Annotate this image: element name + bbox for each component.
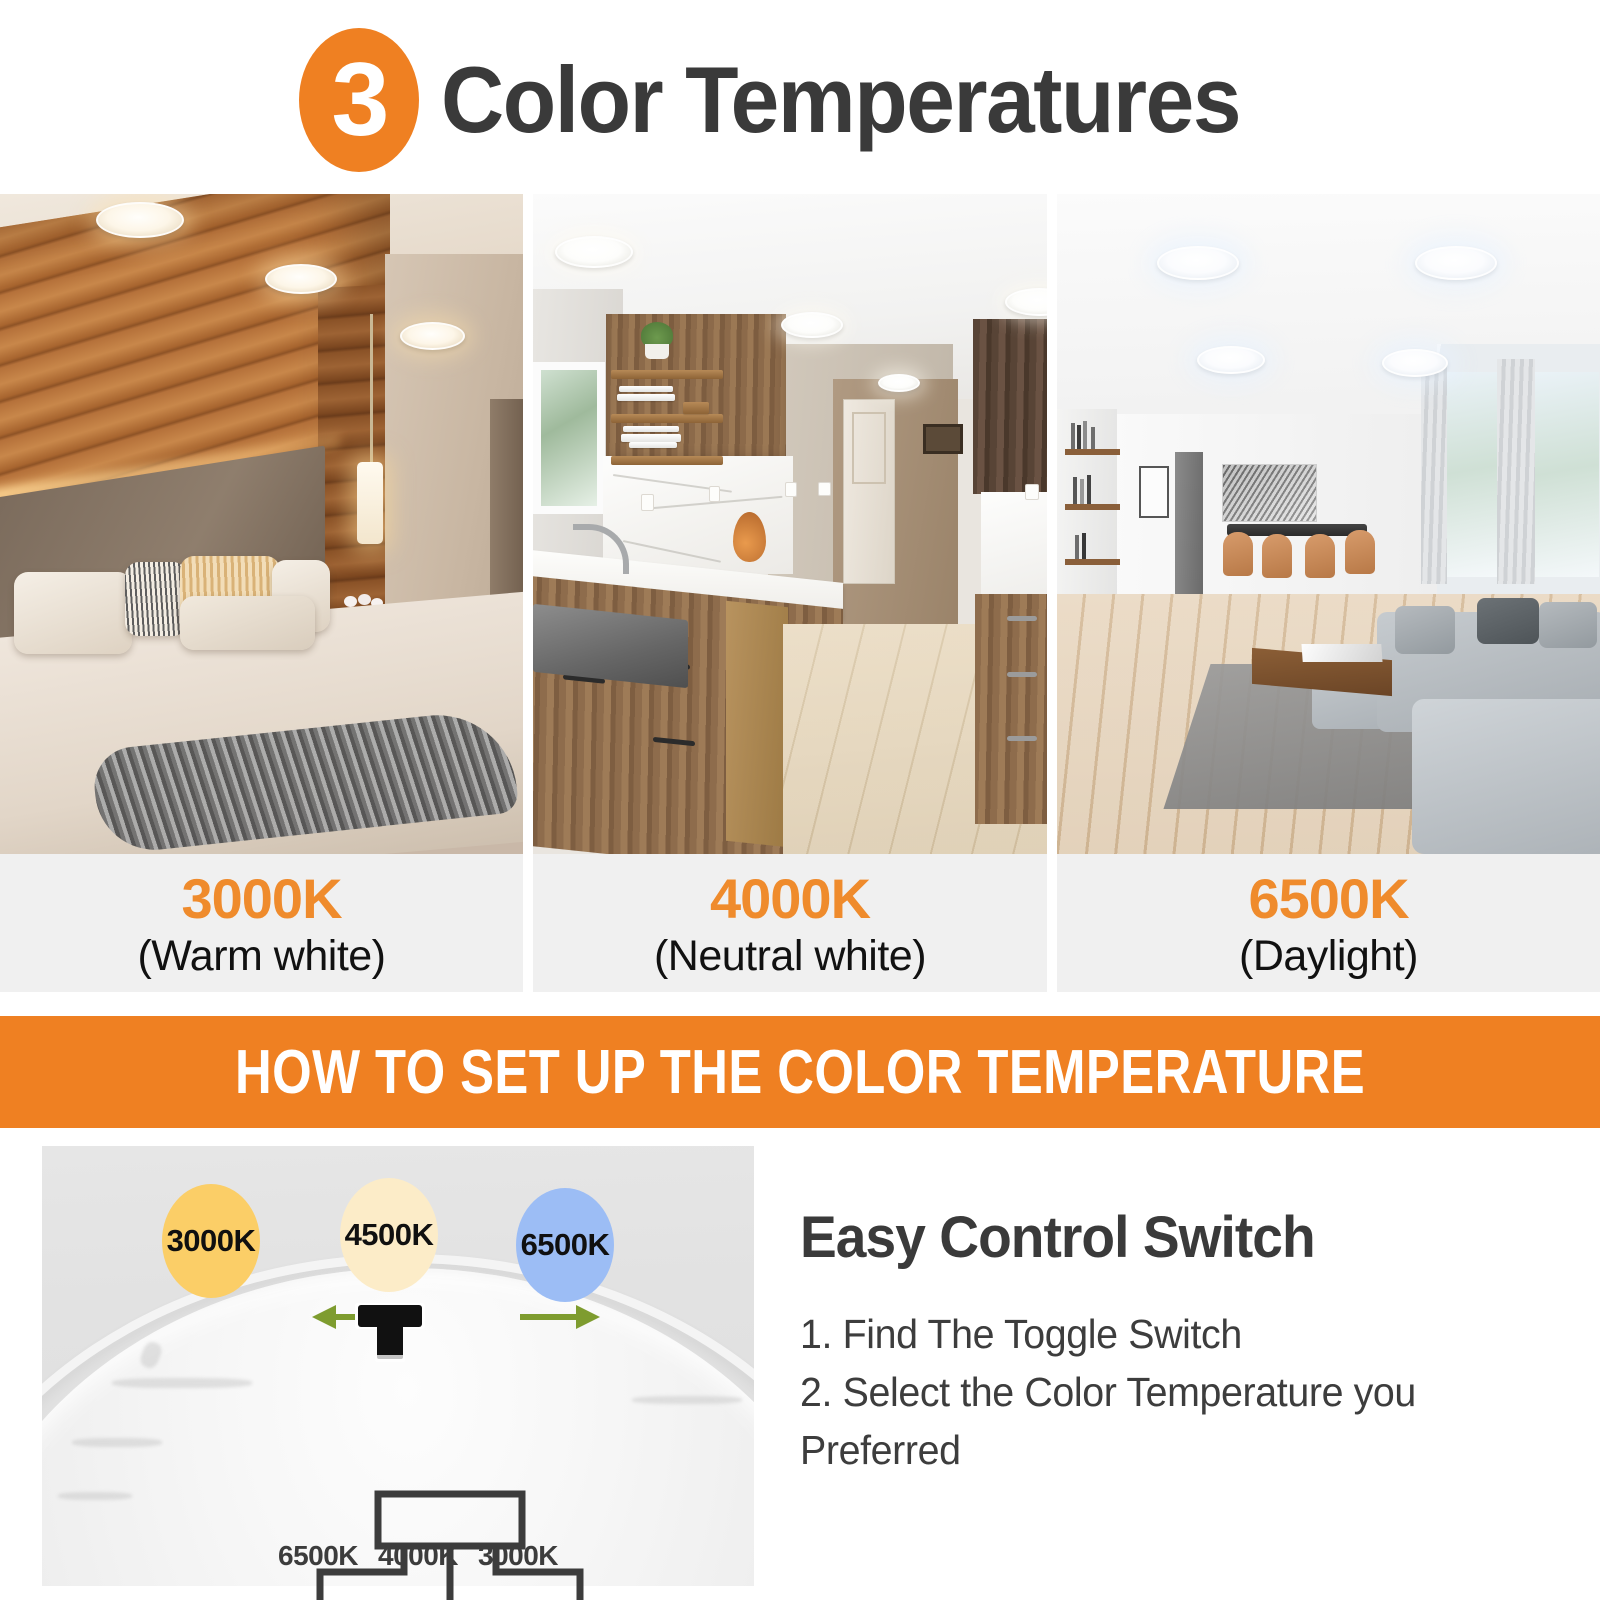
ceiling-light-fixture: [400, 322, 465, 350]
arrow-right-icon: [520, 1314, 578, 1320]
instruction-step-2-continued: Preferred: [800, 1421, 1545, 1479]
schematic-label-3000k: 3000K: [478, 1540, 558, 1572]
caption-4000k: 4000K (Neutral white): [533, 854, 1047, 992]
page-title: Color Temperatures: [441, 46, 1240, 154]
page-header: 3 Color Temperatures: [0, 0, 1600, 194]
ceiling-light-fixture: [555, 236, 633, 268]
ceiling-light-fixture: [878, 374, 920, 392]
kelvin-description: (Neutral white): [654, 931, 926, 982]
bubble-4500k: 4500K: [340, 1178, 438, 1292]
caption-6500k: 6500K (Daylight): [1057, 854, 1600, 992]
panel-6500k: 6500K (Daylight): [1057, 194, 1600, 992]
schematic-label-4000k: 4000K: [378, 1540, 458, 1572]
caption-3000k: 3000K (Warm white): [0, 854, 523, 992]
how-to-banner: HOW TO SET UP THE COLOR TEMPERATURE: [0, 1016, 1600, 1128]
instruction-step-1: 1. Find The Toggle Switch: [800, 1305, 1545, 1363]
ceiling-light-fixture: [1197, 346, 1265, 374]
kelvin-description: (Warm white): [137, 931, 385, 982]
badge-number-circle: 3: [299, 28, 419, 172]
panel-4000k: 4000K (Neutral white): [533, 194, 1047, 992]
kelvin-value: 3000K: [181, 868, 341, 931]
ceiling-light-fixture: [1382, 349, 1448, 377]
instruction-step-2: 2. Select the Color Temperature you: [800, 1363, 1545, 1421]
panel-3000k: 3000K (Warm white): [0, 194, 523, 992]
color-temperature-panels: 3000K (Warm white): [0, 194, 1600, 992]
toggle-switch-icon: [355, 1303, 425, 1365]
ceiling-light-fixture: [265, 264, 337, 294]
setup-section: 3000K 4500K 6500K Easy Control Switch 1.…: [0, 1128, 1600, 1600]
ceiling-light-fixture: [781, 312, 843, 338]
bubble-6500k: 6500K: [516, 1188, 614, 1302]
instructions-heading: Easy Control Switch: [800, 1204, 1537, 1271]
bubble-label: 4500K: [345, 1217, 434, 1253]
badge-number-text: 3: [331, 48, 387, 152]
photo-bedroom-warm-white: [0, 194, 523, 854]
kelvin-value: 6500K: [1248, 868, 1408, 931]
bubble-3000k: 3000K: [162, 1184, 260, 1298]
ceiling-light-fixture: [1415, 246, 1497, 280]
kelvin-value: 4000K: [710, 868, 870, 931]
instructions-column: Easy Control Switch 1. Find The Toggle S…: [800, 1146, 1576, 1600]
bubble-label: 6500K: [521, 1227, 610, 1263]
schematic-label-6500k: 6500K: [278, 1540, 358, 1572]
bubble-label: 3000K: [167, 1223, 256, 1259]
banner-text: HOW TO SET UP THE COLOR TEMPERATURE: [235, 1037, 1365, 1108]
kelvin-description: (Daylight): [1239, 931, 1418, 982]
photo-kitchen-neutral-white: [533, 194, 1047, 854]
photo-living-room-daylight: [1057, 194, 1600, 854]
ceiling-light-fixture: [1157, 246, 1239, 280]
ceiling-light-fixture: [96, 202, 184, 238]
